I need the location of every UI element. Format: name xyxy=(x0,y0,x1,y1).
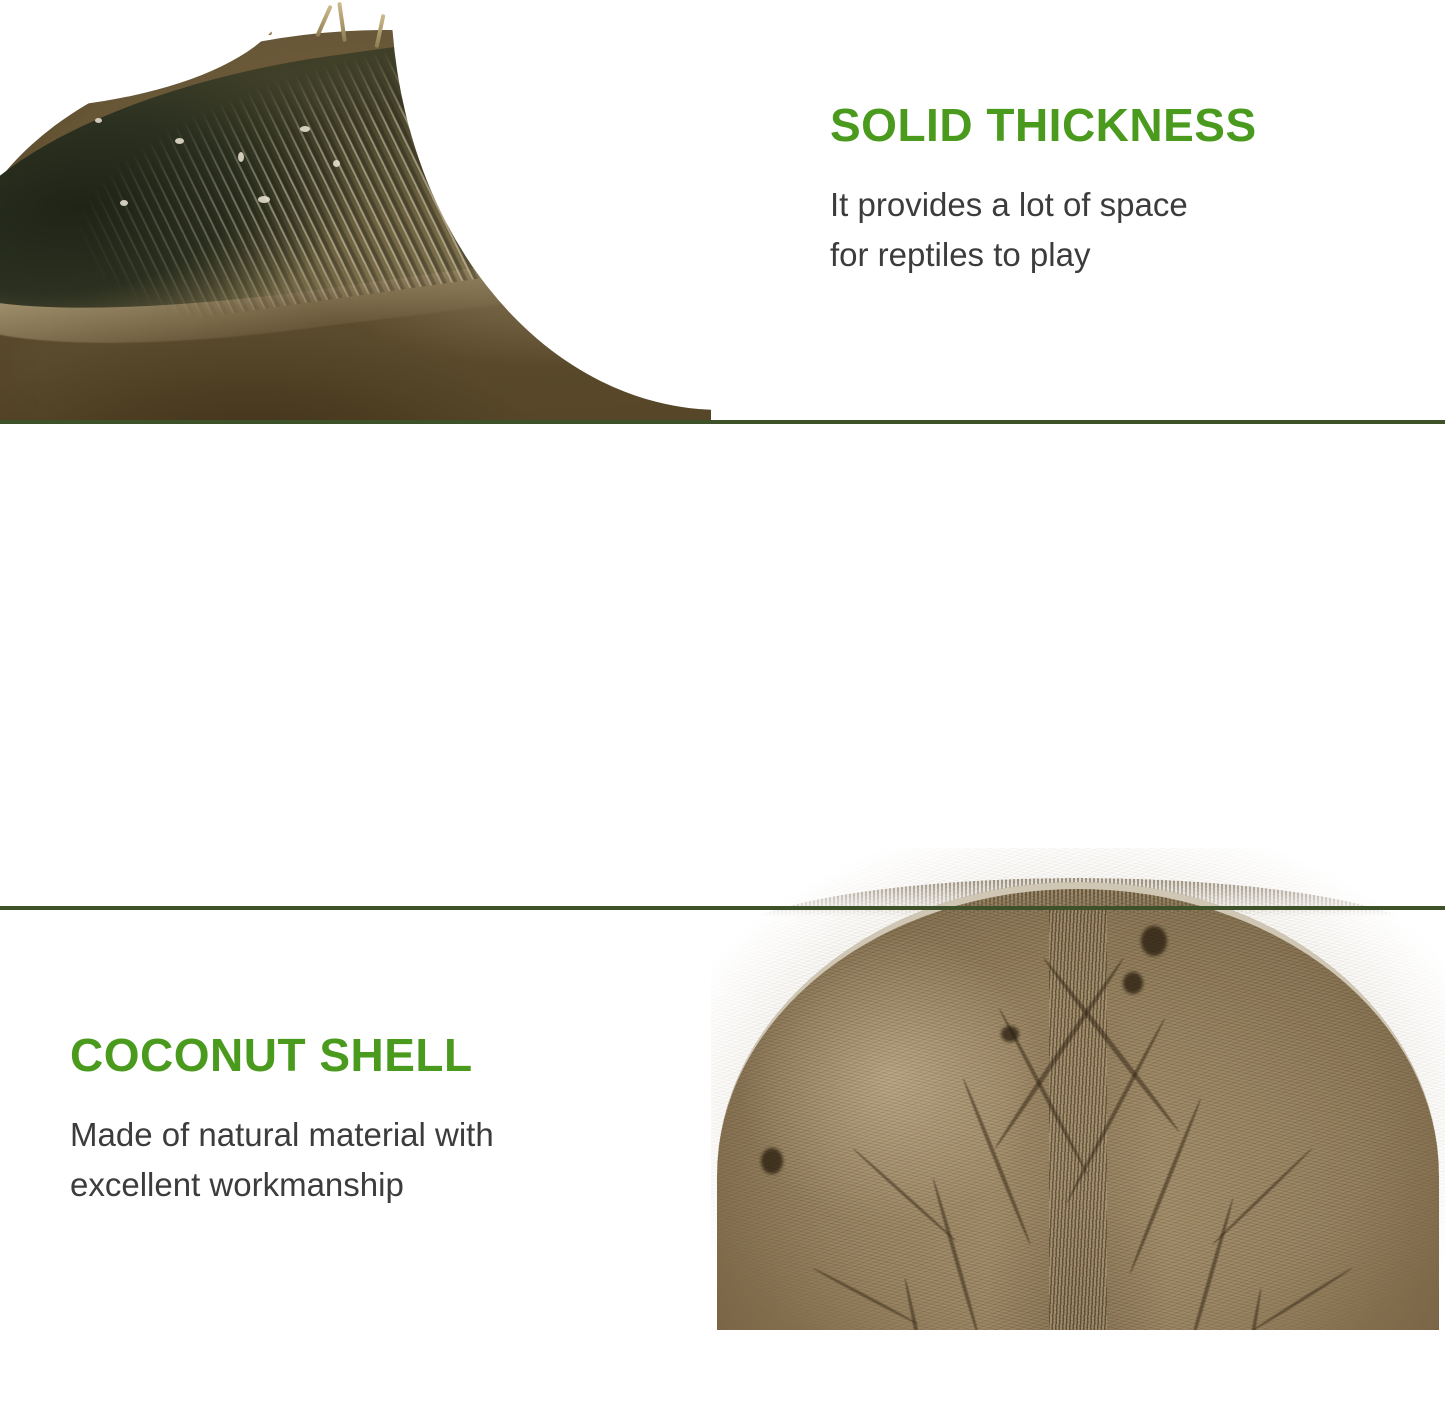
feature-row-coconut-shell: COCONUT SHELL Made of natural material w… xyxy=(0,424,1445,910)
shell-speck xyxy=(120,200,128,206)
shell-speck xyxy=(258,196,270,203)
shell-speck xyxy=(300,126,310,132)
product-photo-shell-thickness xyxy=(0,0,711,420)
shell-speck xyxy=(175,138,184,144)
feature-heading-solid-thickness: SOLID THICKNESS xyxy=(830,100,1390,150)
feature-body-solid-thickness: It provides a lot of space for reptiles … xyxy=(830,180,1390,280)
feature-text-solid-thickness: SOLID THICKNESS It provides a lot of spa… xyxy=(830,100,1390,280)
shell-speck xyxy=(95,118,102,123)
product-feature-infographic: SOLID THICKNESS It provides a lot of spa… xyxy=(0,0,1445,1413)
shell-speck xyxy=(238,152,244,162)
shell-speck xyxy=(333,160,340,167)
feature-row-solid-thickness: SOLID THICKNESS It provides a lot of spa… xyxy=(0,0,1445,424)
feature-row-fine-texture: FINE TEXTURE Helps recreate the look and… xyxy=(0,910,1445,1413)
shell-thickness-illustration xyxy=(0,0,711,420)
